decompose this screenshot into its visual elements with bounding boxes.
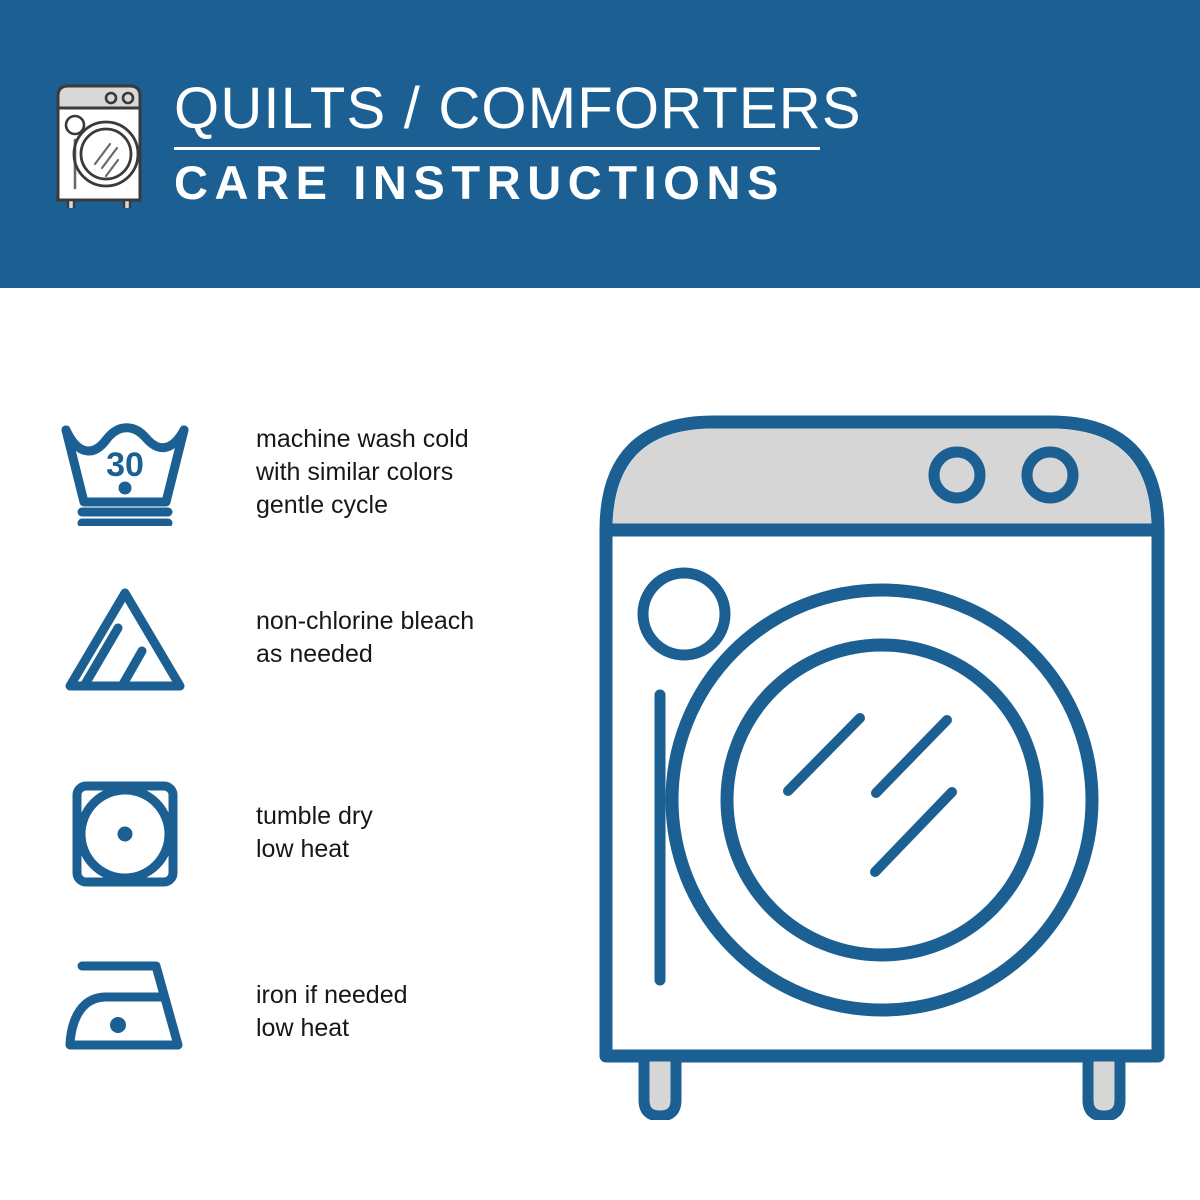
care-text: non-chlorine bleach as needed xyxy=(256,605,474,671)
care-line: low heat xyxy=(256,833,373,866)
care-line: iron if needed xyxy=(256,979,408,1012)
washing-machine-logo-icon xyxy=(48,78,156,208)
care-line: low heat xyxy=(256,1012,408,1045)
page-header: QUILTS / COMFORTERS CARE INSTRUCTIONS xyxy=(0,0,1200,288)
care-line: as needed xyxy=(256,638,474,671)
care-symbol-list: 30 machine wash cold with similar colors… xyxy=(0,288,560,1200)
page-subtitle: CARE INSTRUCTIONS xyxy=(174,159,862,206)
care-text: iron if needed low heat xyxy=(256,979,408,1045)
wash-temperature-label: 30 xyxy=(106,446,144,484)
care-row: tumble dry low heat xyxy=(60,778,530,888)
care-line: tumble dry xyxy=(256,800,373,833)
care-row: non-chlorine bleach as needed xyxy=(60,583,530,693)
page-title: QUILTS / COMFORTERS xyxy=(174,80,862,138)
iron-icon xyxy=(60,953,190,1053)
tumble-dry-icon xyxy=(60,778,190,888)
care-line: non-chlorine bleach xyxy=(256,605,474,638)
washer-leg-right xyxy=(1088,1056,1120,1116)
title-divider xyxy=(174,147,820,150)
care-line: with similar colors xyxy=(256,456,469,489)
care-text: tumble dry low heat xyxy=(256,800,373,866)
header-content: QUILTS / COMFORTERS CARE INSTRUCTIONS xyxy=(48,78,862,208)
bleach-triangle-icon xyxy=(60,583,190,693)
header-title-block: QUILTS / COMFORTERS CARE INSTRUCTIONS xyxy=(174,78,862,206)
care-text: machine wash cold with similar colors ge… xyxy=(256,423,469,522)
care-line: gentle cycle xyxy=(256,489,469,522)
washer-leg-left xyxy=(644,1056,676,1116)
front-load-washer-illustration xyxy=(592,400,1172,1120)
care-instructions-page: QUILTS / COMFORTERS CARE INSTRUCTIONS 30 xyxy=(0,0,1200,1200)
care-row: 30 machine wash cold with similar colors… xyxy=(60,416,530,526)
wash-tub-30-icon: 30 xyxy=(60,416,190,526)
care-row: iron if needed low heat xyxy=(60,953,530,1053)
care-line: machine wash cold xyxy=(256,423,469,456)
